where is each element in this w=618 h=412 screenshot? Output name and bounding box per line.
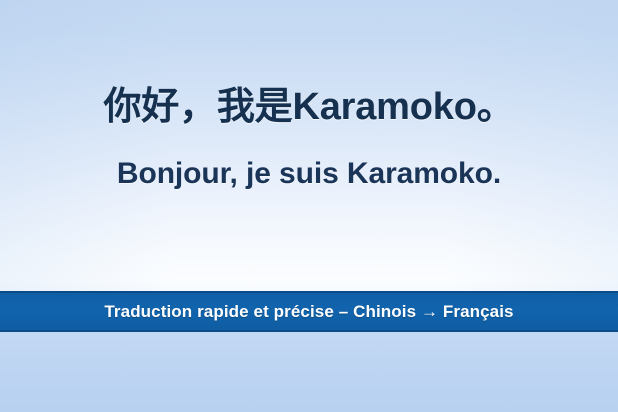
source-language-text: 你好，我是Karamoko。 — [0, 84, 618, 130]
translation-slide: 你好，我是Karamoko。 Bonjour, je suis Karamoko… — [0, 0, 618, 412]
translation-text-block: 你好，我是Karamoko。 Bonjour, je suis Karamoko… — [0, 84, 618, 192]
target-language-text: Bonjour, je suis Karamoko. — [0, 156, 618, 192]
slide-lower-background — [0, 332, 618, 412]
caption-banner-label: Traduction rapide et précise – Chinois →… — [104, 302, 513, 322]
caption-banner: Traduction rapide et précise – Chinois →… — [0, 291, 618, 332]
